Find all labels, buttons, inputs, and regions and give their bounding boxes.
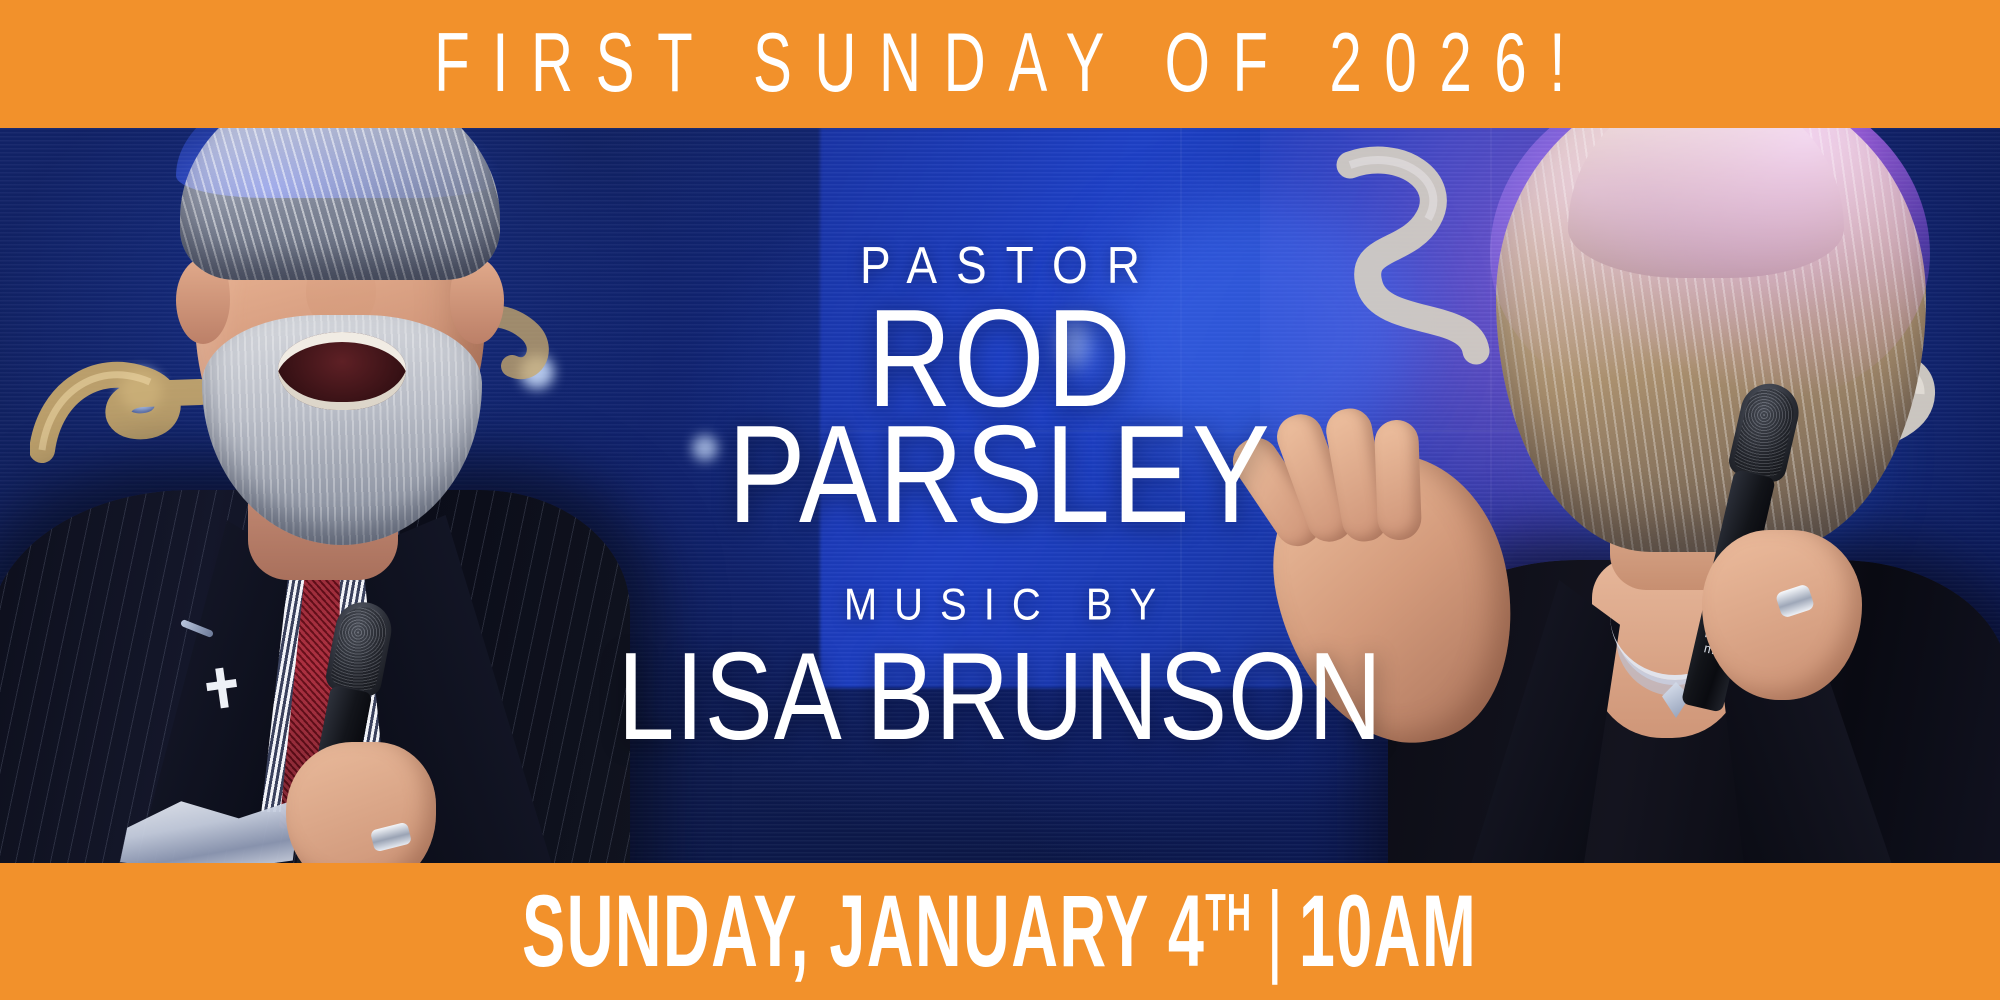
datetime-separator: |: [1252, 872, 1299, 986]
speaker-open-mouth: [278, 332, 406, 410]
bokeh-light: [692, 435, 718, 461]
top-orange-banner-bar: FIRST SUNDAY OF 2026!: [0, 0, 2000, 128]
top-banner-headline: FIRST SUNDAY OF 2026!: [412, 22, 1588, 105]
cross-lapel-pin-icon: [202, 664, 242, 712]
event-promo-banner: lead mic PASTOR ROD PARSLEY MUSIC BY LIS…: [0, 0, 2000, 1000]
event-datetime-line: SUNDAY, JANUARY 4TH|10AM: [522, 880, 1477, 982]
bottom-orange-banner-bar: SUNDAY, JANUARY 4TH|10AM: [0, 863, 2000, 1000]
event-date-text: SUNDAY, JANUARY 4: [522, 875, 1205, 989]
event-time-text: 10AM: [1299, 875, 1477, 989]
date-ordinal-suffix: TH: [1206, 882, 1253, 942]
male-speaker-photo: [0, 60, 630, 880]
female-singer-photo: lead mic: [1310, 60, 2000, 880]
singer-finger: [1374, 419, 1422, 540]
bokeh-light: [1060, 320, 1090, 368]
